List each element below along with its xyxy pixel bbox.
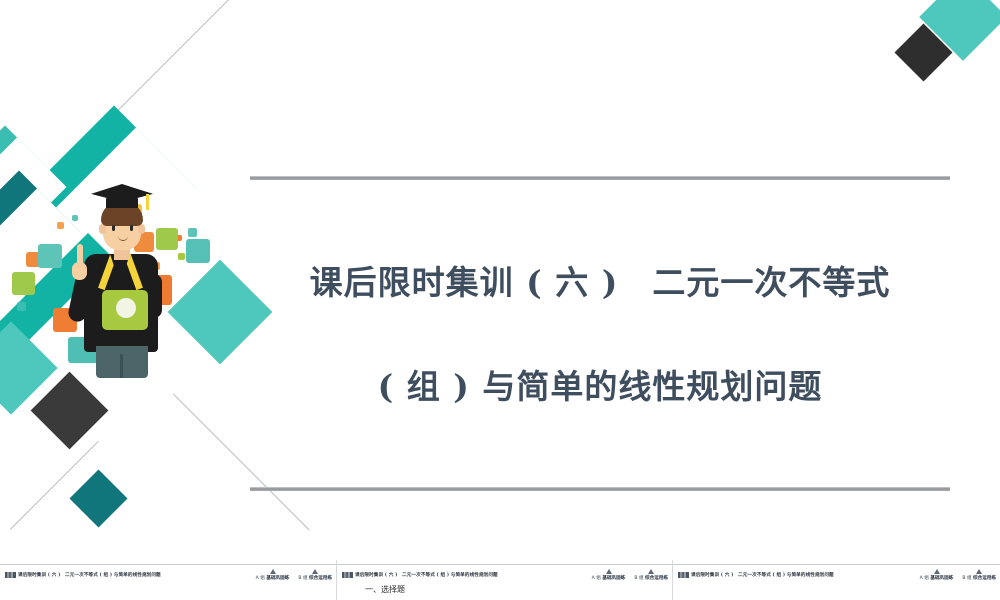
group-b-title: 综合运用练 bbox=[973, 576, 996, 581]
group-tab-b-label: B 组 综合运用练 bbox=[634, 575, 668, 581]
leg-split bbox=[120, 354, 123, 378]
panel-header-title: 课后限时集训 ( 六 ) 二元一次不等式 ( 组 ) 与简单的线性规划问题 bbox=[355, 572, 498, 578]
footer-thumbnail-strip: 课后限时集训 ( 六 ) 二元一次不等式 ( 组 ) 与简单的线性规划问题 A … bbox=[0, 560, 1000, 600]
group-a-title: 基础巩固练 bbox=[602, 576, 625, 581]
group-tab-a[interactable]: A 组 基础巩固练 bbox=[920, 569, 954, 581]
footer-panel[interactable]: 课后限时集训 ( 六 ) 二元一次不等式 ( 组 ) 与简单的线性规划问题 A … bbox=[0, 560, 336, 600]
group-b-title: 综合运用练 bbox=[645, 576, 668, 581]
panel-body: 一、选择题 bbox=[337, 584, 672, 595]
footer-panel[interactable]: 课后限时集训 ( 六 ) 二元一次不等式 ( 组 ) 与简单的线性规划问题 A … bbox=[672, 560, 1000, 600]
book-mark-icon bbox=[5, 572, 16, 578]
panel-header: 课后限时集训 ( 六 ) 二元一次不等式 ( 组 ) 与简单的线性规划问题 A … bbox=[0, 568, 336, 582]
tile-teal-dot-a bbox=[17, 302, 26, 311]
panel-header-title: 课后限时集训 ( 六 ) 二元一次不等式 ( 组 ) 与简单的线性规划问题 bbox=[18, 572, 161, 578]
group-tab-a[interactable]: A 组 基础巩固练 bbox=[592, 569, 626, 581]
panel-body-text: 一、选择题 bbox=[365, 584, 672, 595]
panel-top-rule bbox=[337, 564, 672, 565]
page-title-line-2: ( 组 ) 与简单的线性规划问题 bbox=[250, 361, 950, 413]
page-title-line-1: 课后限时集训 ( 六 ) 二元一次不等式 bbox=[250, 257, 950, 309]
book-mark-icon bbox=[678, 572, 689, 578]
group-a-code: A 组 bbox=[920, 576, 929, 581]
triangle-icon bbox=[648, 569, 654, 574]
group-b-code: B 组 bbox=[634, 576, 643, 581]
tile-teal-cloud bbox=[186, 239, 210, 263]
group-tab-a-label: A 组 基础巩固练 bbox=[592, 575, 626, 581]
group-tab-a-label: A 组 基础巩固练 bbox=[920, 575, 954, 581]
arm-lower-right bbox=[146, 274, 162, 318]
group-tab-a-label: A 组 基础巩固练 bbox=[256, 575, 290, 581]
eye-left bbox=[112, 225, 115, 231]
group-tab-b[interactable]: B 组 综合运用练 bbox=[634, 569, 668, 581]
index-finger bbox=[77, 244, 83, 266]
panel-top-rule bbox=[0, 564, 336, 565]
panel-header-title: 课后限时集训 ( 六 ) 二元一次不等式 ( 组 ) 与简单的线性规划问题 bbox=[691, 572, 834, 578]
title-block: 课后限时集训 ( 六 ) 二元一次不等式 ( 组 ) 与简单的线性规划问题 bbox=[250, 176, 950, 491]
group-a-code: A 组 bbox=[592, 576, 601, 581]
panel-group-tabs[interactable]: A 组 基础巩固练 B 组 综合运用练 bbox=[592, 569, 668, 581]
triangle-icon bbox=[312, 569, 318, 574]
mortarboard-cap-top bbox=[91, 184, 153, 202]
slide-canvas: 课后限时集训 ( 六 ) 二元一次不等式 ( 组 ) 与简单的线性规划问题 课后… bbox=[0, 0, 1000, 600]
panel-header: 课后限时集训 ( 六 ) 二元一次不等式 ( 组 ) 与简单的线性规划问题 A … bbox=[673, 568, 1000, 582]
triangle-icon bbox=[934, 569, 940, 574]
tile-teal-hand bbox=[38, 244, 62, 268]
panel-header: 课后限时集训 ( 六 ) 二元一次不等式 ( 组 ) 与简单的线性规划问题 A … bbox=[337, 568, 672, 582]
graduate-figure bbox=[62, 170, 182, 385]
cap-tassel bbox=[146, 194, 149, 210]
diamond-teal-dark-bottom bbox=[70, 470, 128, 528]
group-tab-b-label: B 组 综合运用练 bbox=[298, 575, 332, 581]
group-tab-b[interactable]: B 组 综合运用练 bbox=[962, 569, 996, 581]
panel-group-tabs[interactable]: A 组 基础巩固练 B 组 综合运用练 bbox=[256, 569, 332, 581]
group-b-title: 综合运用练 bbox=[309, 576, 332, 581]
tile-teal-dot-d bbox=[188, 228, 197, 237]
title-rule-bottom bbox=[250, 487, 950, 491]
group-a-title: 基础巩固练 bbox=[930, 576, 953, 581]
group-tab-b[interactable]: B 组 综合运用练 bbox=[298, 569, 332, 581]
book-mark-icon bbox=[342, 572, 353, 578]
triangle-icon bbox=[976, 569, 982, 574]
group-b-code: B 组 bbox=[962, 576, 971, 581]
eye-right bbox=[130, 225, 133, 231]
triangle-icon bbox=[606, 569, 612, 574]
page-title: 课后限时集训 ( 六 ) 二元一次不等式 ( 组 ) 与简单的线性规划问题 bbox=[250, 180, 950, 487]
panel-top-rule bbox=[673, 564, 1000, 565]
group-tab-a[interactable]: A 组 基础巩固练 bbox=[256, 569, 290, 581]
group-a-code: A 组 bbox=[256, 576, 265, 581]
tile-green-flask bbox=[12, 272, 35, 295]
triangle-icon bbox=[270, 569, 276, 574]
group-tab-b-label: B 组 综合运用练 bbox=[962, 575, 996, 581]
group-b-code: B 组 bbox=[298, 576, 307, 581]
held-tablet-globe-icon bbox=[116, 298, 136, 318]
group-a-title: 基础巩固练 bbox=[266, 576, 289, 581]
footer-panel[interactable]: 课后限时集训 ( 六 ) 二元一次不等式 ( 组 ) 与简单的线性规划问题 A … bbox=[336, 560, 672, 600]
panel-group-tabs[interactable]: A 组 基础巩固练 B 组 综合运用练 bbox=[920, 569, 996, 581]
